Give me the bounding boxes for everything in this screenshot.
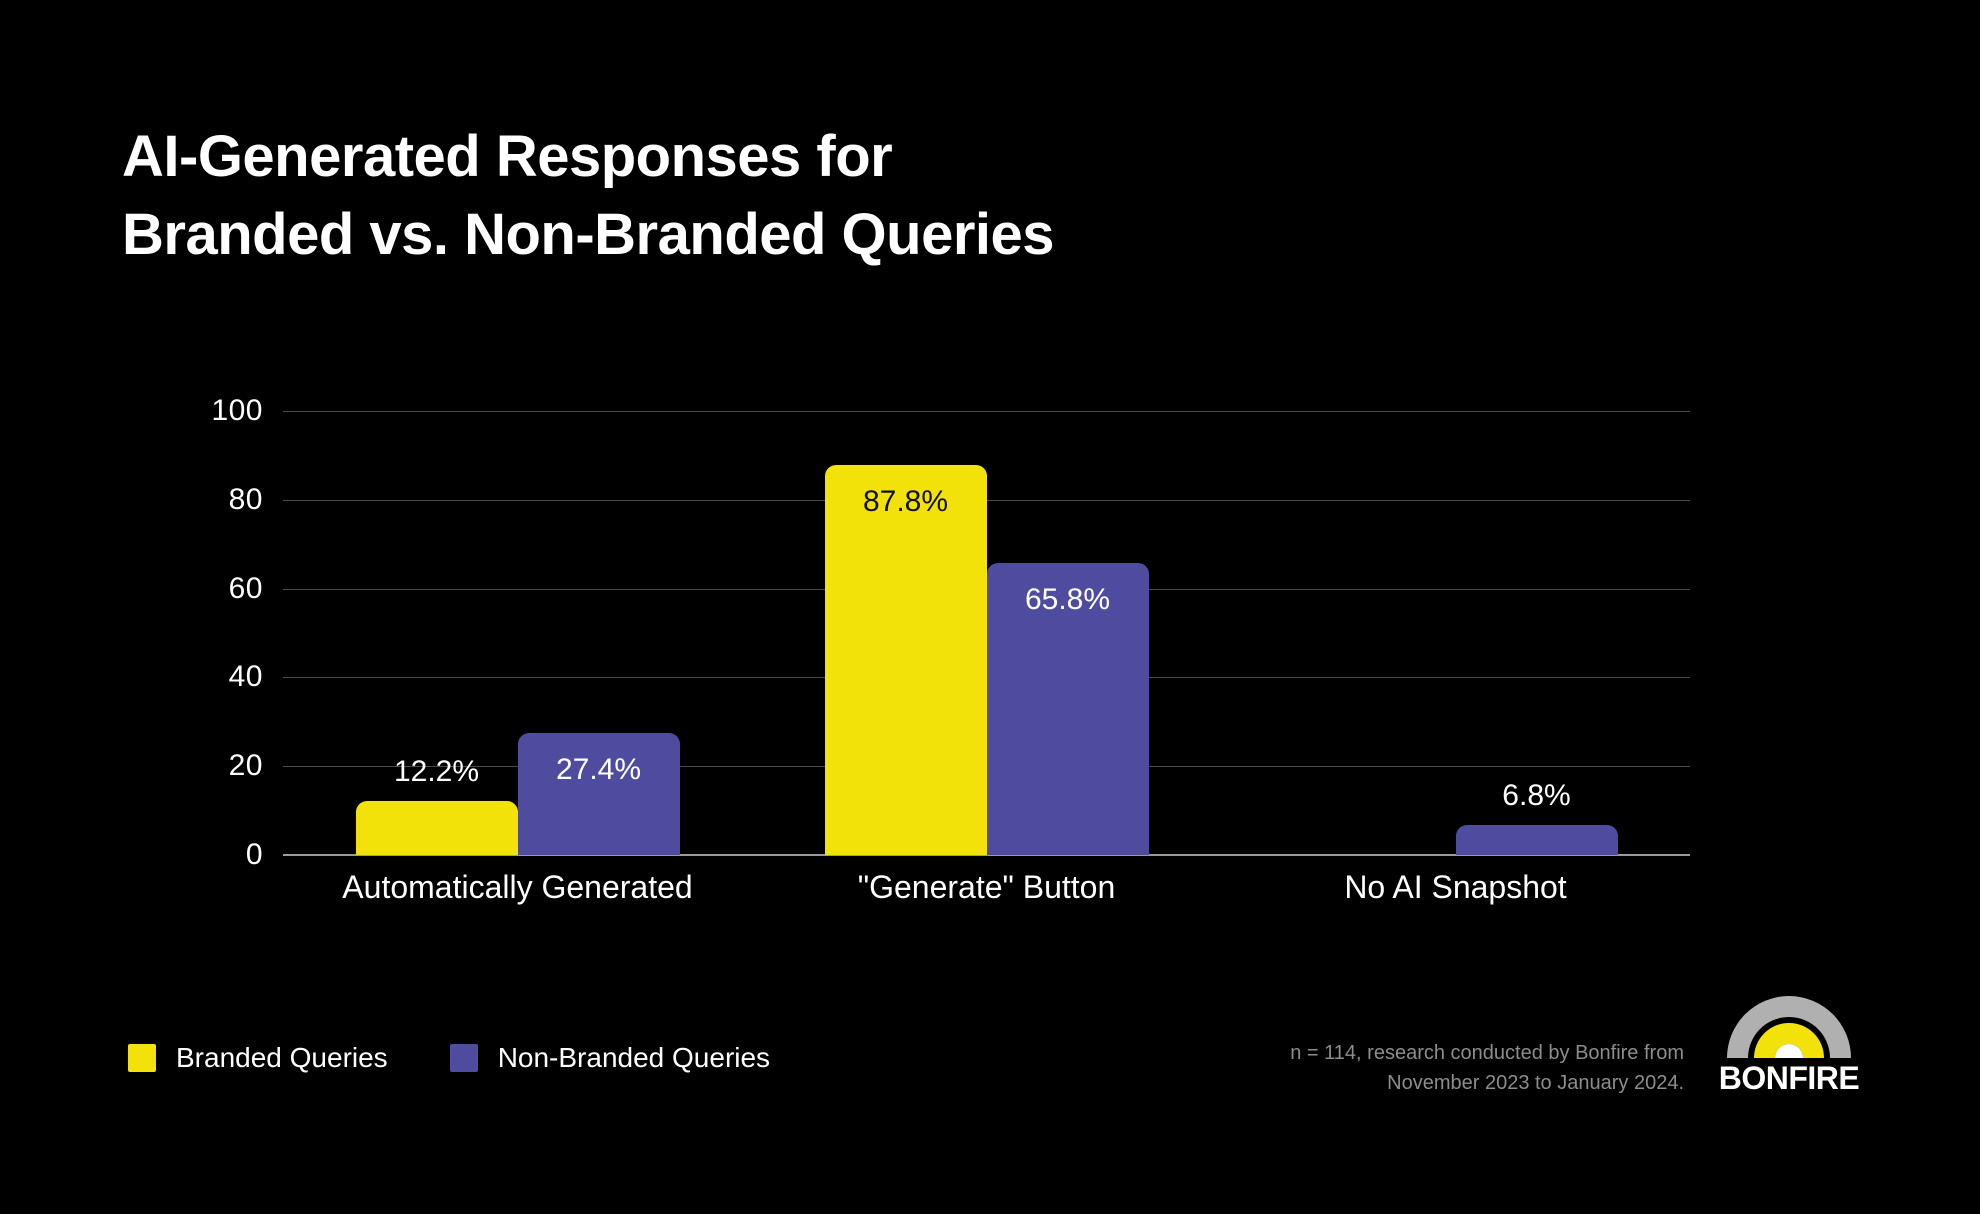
bonfire-arch-icon <box>1718 988 1860 1066</box>
bar-value-label: 6.8% <box>1456 779 1618 813</box>
legend-item[interactable]: Branded Queries <box>128 1042 388 1074</box>
bar-value-label: 65.8% <box>987 583 1149 617</box>
x-axis-category-label: No AI Snapshot <box>1344 869 1566 906</box>
slide-canvas: AI-Generated Responses for Branded vs. N… <box>0 0 1980 1214</box>
bonfire-logo: BONFIRE <box>1718 988 1860 1100</box>
y-axis-tick-label: 80 <box>63 483 263 517</box>
footnote: n = 114, research conducted by Bonfire f… <box>1224 1038 1684 1098</box>
legend-swatch-icon <box>128 1044 156 1072</box>
bar[interactable]: 87.8% <box>825 465 987 855</box>
legend-swatch-icon <box>450 1044 478 1072</box>
gridline <box>283 411 1690 412</box>
bar-chart: 020406080100 12.2%27.4%87.8%65.8%6.8% Au… <box>0 0 1980 1214</box>
bar-value-label: 12.2% <box>356 755 518 789</box>
x-axis-category-label: "Generate" Button <box>858 869 1116 906</box>
x-axis-category-label: Automatically Generated <box>342 869 692 906</box>
y-axis-tick-label: 100 <box>63 394 263 428</box>
bar[interactable]: 27.4% <box>518 733 680 855</box>
bar-value-label: 87.8% <box>825 485 987 519</box>
plot-area: 12.2%27.4%87.8%65.8%6.8% <box>283 411 1690 855</box>
bar[interactable]: 12.2% <box>356 801 518 855</box>
bar[interactable]: 6.8% <box>1456 825 1618 855</box>
logo-wordmark: BONFIRE <box>1718 1060 1860 1097</box>
bar[interactable]: 65.8% <box>987 563 1149 855</box>
legend-label: Branded Queries <box>176 1042 388 1074</box>
y-axis-tick-label: 40 <box>63 660 263 694</box>
y-axis-tick-label: 0 <box>63 838 263 872</box>
chart-legend: Branded QueriesNon-Branded Queries <box>128 1042 770 1074</box>
legend-label: Non-Branded Queries <box>498 1042 770 1074</box>
y-axis-tick-label: 20 <box>63 749 263 783</box>
y-axis-tick-label: 60 <box>63 572 263 606</box>
gridline <box>283 500 1690 501</box>
bar-value-label: 27.4% <box>518 753 680 787</box>
legend-item[interactable]: Non-Branded Queries <box>450 1042 770 1074</box>
